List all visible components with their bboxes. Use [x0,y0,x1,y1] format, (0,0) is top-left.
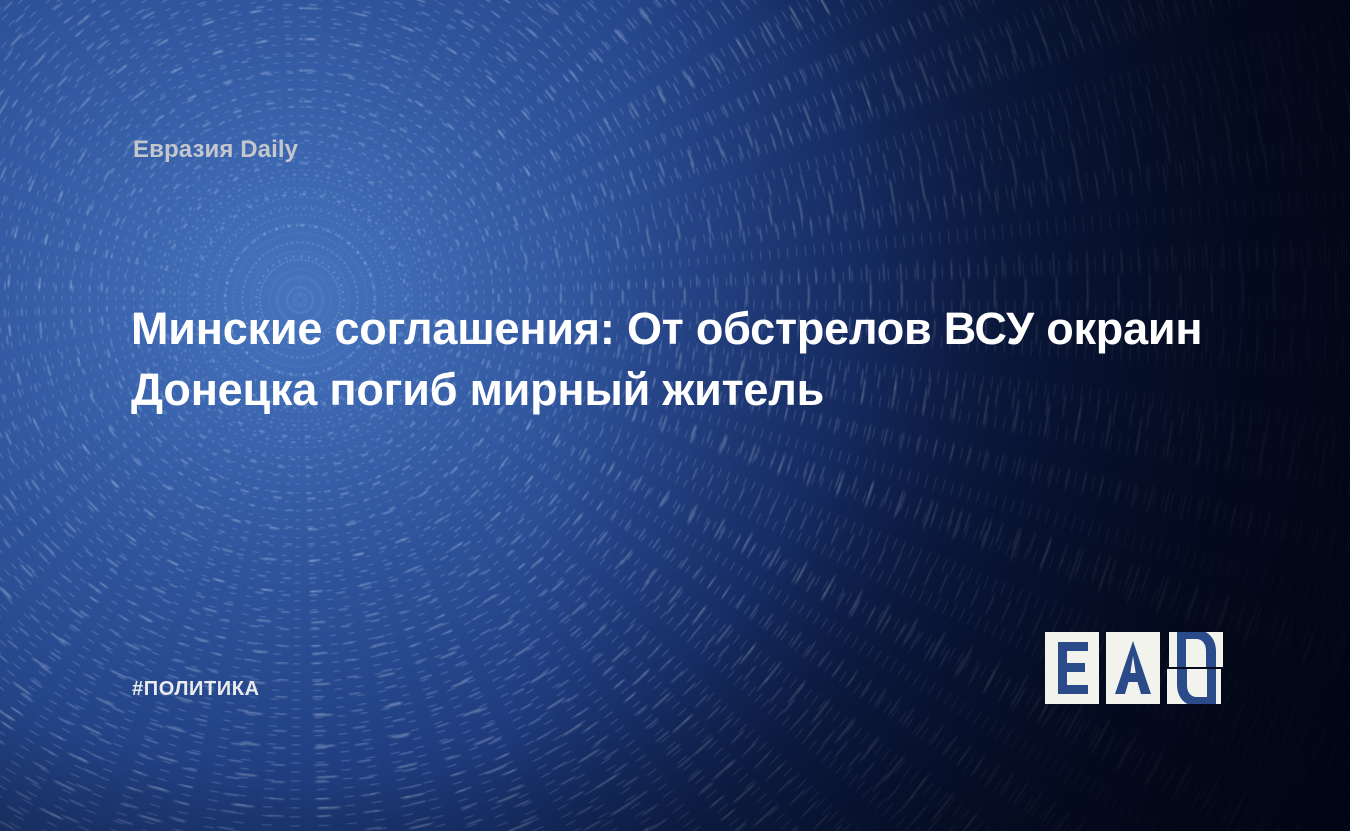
eadaily-logo [1045,632,1223,704]
logo-tile-d [1167,632,1223,704]
page-title: Минские соглашения: От обстрелов ВСУ окр… [131,298,1251,420]
letter-d-upper-half [1169,632,1223,667]
logo-tile-a [1106,632,1160,704]
letter-d-lower-half [1167,669,1221,704]
letter-a-icon [1106,632,1160,704]
logo-tile-e [1045,632,1099,704]
publisher-name: Евразия Daily [133,136,298,164]
letter-d-bottom-icon [1167,669,1221,704]
letter-e-icon [1045,632,1099,704]
category-hashtag: #ПОЛИТИКА [132,678,260,701]
letter-d-top-icon [1169,632,1223,667]
social-share-card: Евразия Daily Минские соглашения: От обс… [0,0,1350,831]
